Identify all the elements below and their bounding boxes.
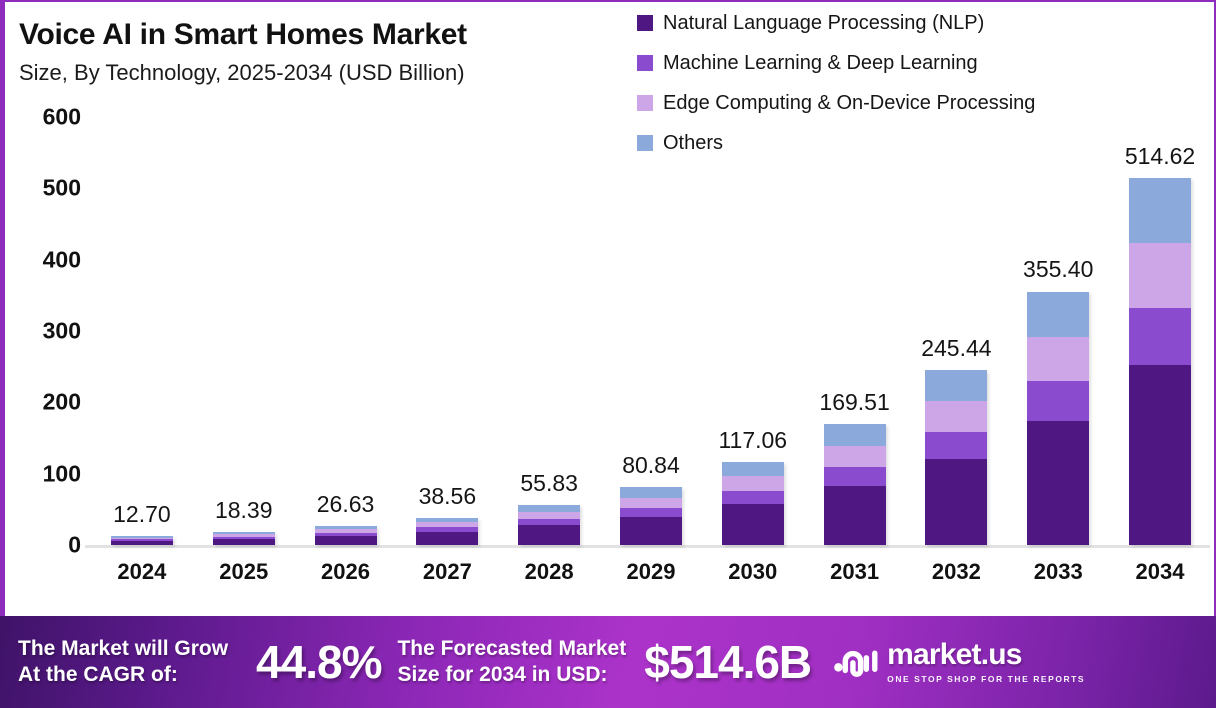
legend-label: Edge Computing & On-Device Processing xyxy=(663,92,1035,115)
bar-segment[interactable] xyxy=(518,505,580,512)
bar-segment[interactable] xyxy=(213,539,275,545)
bar-stack[interactable] xyxy=(1129,178,1191,545)
title-block: Voice AI in Smart Homes Market Size, By … xyxy=(19,18,467,86)
forecast-caption: The Forecasted Market Size for 2034 in U… xyxy=(397,636,626,687)
x-axis-tick-label: 2033 xyxy=(1009,559,1107,585)
y-axis-tick-label: 200 xyxy=(43,389,81,416)
logo-name: market.us xyxy=(887,640,1085,670)
legend-swatch-icon xyxy=(637,55,653,71)
bar-segment[interactable] xyxy=(824,446,886,467)
bar-segment[interactable] xyxy=(518,525,580,545)
bar-segment[interactable] xyxy=(722,462,784,477)
bar-segment[interactable] xyxy=(620,508,682,517)
bar-total-label: 26.63 xyxy=(317,491,375,518)
bar-group[interactable]: 55.83 xyxy=(500,117,598,545)
bar-stack[interactable] xyxy=(722,462,784,546)
x-axis-tick-label: 2027 xyxy=(398,559,496,585)
forecast-caption-line1: The Forecasted Market xyxy=(397,637,626,660)
y-axis-tick-label: 400 xyxy=(43,246,81,273)
bar-segment[interactable] xyxy=(620,487,682,497)
x-axis-tick-label: 2024 xyxy=(93,559,191,585)
bar-stack[interactable] xyxy=(213,532,275,545)
bar-group[interactable]: 169.51 xyxy=(806,117,904,545)
bar-segment[interactable] xyxy=(1027,381,1089,420)
legend-item[interactable]: Machine Learning & Deep Learning xyxy=(637,46,1035,80)
legend-swatch-icon xyxy=(637,15,653,31)
bar-total-label: 55.83 xyxy=(520,470,578,497)
bar-group[interactable]: 117.06 xyxy=(704,117,802,545)
cagr-caption-line2: At the CAGR of: xyxy=(18,663,178,686)
cagr-value: 44.8% xyxy=(256,635,381,689)
y-axis-tick-label: 100 xyxy=(43,460,81,487)
bar-total-label: 514.62 xyxy=(1125,143,1195,170)
bar-stack[interactable] xyxy=(925,370,987,545)
bar-segment[interactable] xyxy=(925,370,987,401)
page-title: Voice AI in Smart Homes Market xyxy=(19,18,467,52)
bar-total-label: 18.39 xyxy=(215,497,273,524)
bar-group[interactable]: 38.56 xyxy=(398,117,496,545)
summary-banner: The Market will Grow At the CAGR of: 44.… xyxy=(0,616,1216,708)
cagr-caption-line1: The Market will Grow xyxy=(18,637,228,660)
x-axis: 2024202520262027202820292030203120322033… xyxy=(91,554,1211,590)
forecast-value: $514.6B xyxy=(644,635,811,689)
bar-group[interactable]: 26.63 xyxy=(297,117,395,545)
bar-segment[interactable] xyxy=(722,491,784,504)
legend-item[interactable]: Edge Computing & On-Device Processing xyxy=(637,86,1035,120)
bar-segment[interactable] xyxy=(824,486,886,545)
bar-segment[interactable] xyxy=(518,512,580,519)
y-axis-tick-label: 500 xyxy=(43,175,81,202)
bar-segment[interactable] xyxy=(925,401,987,432)
legend-label: Machine Learning & Deep Learning xyxy=(663,52,978,75)
x-axis-baseline xyxy=(85,545,1210,548)
chart-plot-area: 6005004003002001000 12.7018.3926.6338.56… xyxy=(5,117,1216,549)
x-axis-tick-label: 2034 xyxy=(1111,559,1209,585)
bar-total-label: 355.40 xyxy=(1023,256,1093,283)
bar-stack[interactable] xyxy=(824,424,886,545)
bar-segment[interactable] xyxy=(824,467,886,486)
y-axis-tick-label: 300 xyxy=(43,318,81,345)
bar-segment[interactable] xyxy=(1129,308,1191,365)
x-axis-tick-label: 2031 xyxy=(806,559,904,585)
x-axis-tick-label: 2032 xyxy=(907,559,1005,585)
bar-stack[interactable] xyxy=(1027,291,1089,545)
bar-segment[interactable] xyxy=(315,536,377,545)
bar-segment[interactable] xyxy=(620,517,682,545)
bar-group[interactable]: 245.44 xyxy=(907,117,1005,545)
bar-total-label: 245.44 xyxy=(921,335,991,362)
x-axis-tick-label: 2028 xyxy=(500,559,598,585)
bar-segment[interactable] xyxy=(416,532,478,545)
page-subtitle: Size, By Technology, 2025-2034 (USD Bill… xyxy=(19,60,467,86)
bar-segment[interactable] xyxy=(1129,365,1191,545)
bar-segment[interactable] xyxy=(1027,337,1089,382)
market-us-logo-icon xyxy=(833,644,879,680)
bar-total-label: 80.84 xyxy=(622,452,680,479)
y-axis-tick-label: 600 xyxy=(43,104,81,131)
x-axis-tick-label: 2029 xyxy=(602,559,700,585)
logo-tagline: ONE STOP SHOP FOR THE REPORTS xyxy=(887,674,1085,684)
bar-segment[interactable] xyxy=(1027,421,1089,545)
bar-stack[interactable] xyxy=(315,526,377,545)
x-axis-tick-label: 2026 xyxy=(297,559,395,585)
bar-group[interactable]: 18.39 xyxy=(195,117,293,545)
legend-swatch-icon xyxy=(637,95,653,111)
bar-segment[interactable] xyxy=(1129,178,1191,243)
infographic-page: Voice AI in Smart Homes Market Size, By … xyxy=(0,0,1216,706)
bar-segment[interactable] xyxy=(620,498,682,508)
bar-stack[interactable] xyxy=(518,505,580,545)
legend-label: Natural Language Processing (NLP) xyxy=(663,12,984,35)
bar-segment[interactable] xyxy=(722,476,784,491)
bar-group[interactable]: 80.84 xyxy=(602,117,700,545)
x-axis-tick-label: 2030 xyxy=(704,559,802,585)
bar-group[interactable]: 355.40 xyxy=(1009,117,1107,545)
bar-stack[interactable] xyxy=(416,518,478,546)
cagr-caption: The Market will Grow At the CAGR of: xyxy=(18,636,228,687)
market-us-logo[interactable]: market.us ONE STOP SHOP FOR THE REPORTS xyxy=(833,640,1085,684)
bar-segment[interactable] xyxy=(824,424,886,446)
bar-segment[interactable] xyxy=(925,459,987,545)
forecast-caption-line2: Size for 2034 in USD: xyxy=(397,663,607,686)
bar-segment[interactable] xyxy=(1027,292,1089,337)
bar-group[interactable]: 514.62 xyxy=(1111,117,1209,545)
bar-total-label: 117.06 xyxy=(718,427,787,454)
bar-segment[interactable] xyxy=(1129,243,1191,308)
logo-text: market.us ONE STOP SHOP FOR THE REPORTS xyxy=(887,640,1085,684)
bar-series-container: 12.7018.3926.6338.5655.8380.84117.06169.… xyxy=(91,117,1211,545)
legend-item[interactable]: Natural Language Processing (NLP) xyxy=(637,6,1035,40)
y-axis: 6005004003002001000 xyxy=(5,117,91,549)
bar-group[interactable]: 12.70 xyxy=(93,117,191,545)
bar-segment[interactable] xyxy=(111,541,173,545)
bar-total-label: 169.51 xyxy=(819,389,889,416)
bar-total-label: 38.56 xyxy=(419,483,477,510)
bar-total-label: 12.70 xyxy=(113,501,171,528)
bar-stack[interactable] xyxy=(620,487,682,545)
bar-segment[interactable] xyxy=(925,432,987,459)
x-axis-tick-label: 2025 xyxy=(195,559,293,585)
y-axis-tick-label: 0 xyxy=(68,532,81,559)
bar-stack[interactable] xyxy=(111,536,173,545)
bar-segment[interactable] xyxy=(722,504,784,545)
